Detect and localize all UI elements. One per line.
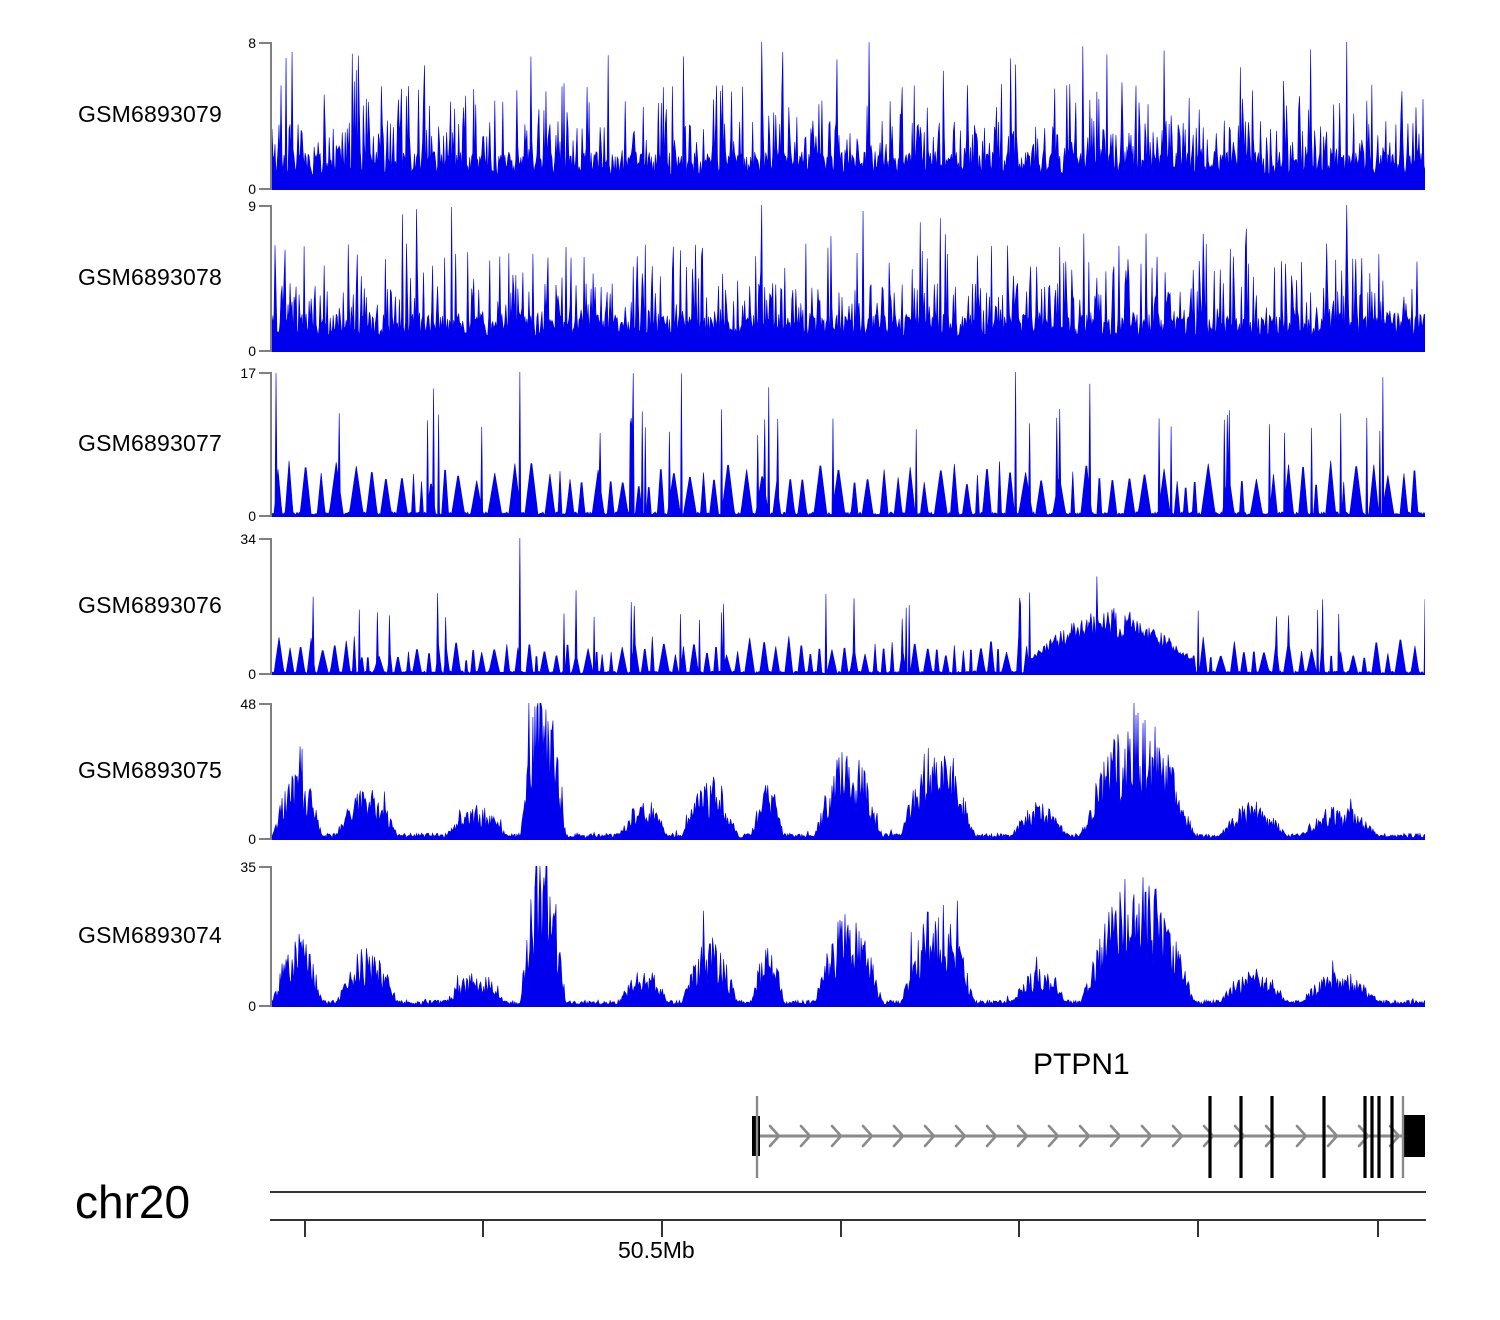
exon-mark bbox=[1363, 1096, 1366, 1178]
track-label-gsm6893077: GSM6893077 bbox=[78, 430, 222, 457]
y-axis-tick-max bbox=[259, 42, 270, 44]
y-axis-min-label: 0 bbox=[248, 509, 256, 523]
y-axis-tick-min bbox=[259, 515, 270, 517]
y-axis-tick-min bbox=[259, 673, 270, 675]
coverage-track: GSM6893074350 bbox=[0, 866, 1500, 1007]
y-axis-max-label: 17 bbox=[240, 366, 256, 380]
track-label-gsm6893078: GSM6893078 bbox=[78, 264, 222, 291]
coverage-wiggle bbox=[272, 538, 1425, 675]
coverage-wiggle bbox=[272, 866, 1425, 1007]
y-axis-tick-min bbox=[259, 838, 270, 840]
exon-mark bbox=[1377, 1096, 1380, 1178]
y-axis-max-label: 34 bbox=[240, 532, 256, 546]
y-axis-max-label: 48 bbox=[240, 697, 256, 711]
y-axis-tick-max bbox=[259, 372, 270, 374]
coverage-wiggle bbox=[272, 703, 1425, 840]
genome-browser-figure: GSM689307980GSM689307890GSM6893077170GSM… bbox=[0, 0, 1500, 1320]
track-plot-area[interactable]: 340 bbox=[270, 538, 1425, 675]
y-axis-tick-max bbox=[259, 866, 270, 868]
exon-mark bbox=[1390, 1096, 1393, 1178]
track-plot-area[interactable]: 90 bbox=[270, 205, 1425, 352]
coverage-wiggle bbox=[272, 372, 1425, 517]
exon-mark bbox=[1208, 1096, 1211, 1178]
chromosome-axis-svg[interactable] bbox=[270, 1187, 1432, 1247]
track-label-gsm6893079: GSM6893079 bbox=[78, 101, 222, 128]
track-plot-area[interactable]: 480 bbox=[270, 703, 1425, 840]
exon-mark bbox=[1322, 1096, 1325, 1178]
chromosome-label: chr20 bbox=[75, 1179, 190, 1225]
track-plot-area[interactable]: 80 bbox=[270, 42, 1425, 190]
exon-mark bbox=[1239, 1096, 1242, 1178]
axis-tick-label: 50.5Mb bbox=[618, 1237, 695, 1264]
coverage-wiggle bbox=[272, 42, 1425, 190]
y-axis-max-label: 35 bbox=[240, 860, 256, 874]
track-plot-area[interactable]: 350 bbox=[270, 866, 1425, 1007]
coverage-track: GSM6893075480 bbox=[0, 703, 1500, 840]
y-axis-min-label: 0 bbox=[248, 667, 256, 681]
track-label-gsm6893074: GSM6893074 bbox=[78, 922, 222, 949]
y-axis-tick-max bbox=[259, 538, 270, 540]
y-axis-tick-max bbox=[259, 703, 270, 705]
track-label-gsm6893075: GSM6893075 bbox=[78, 757, 222, 784]
y-axis-tick-min bbox=[259, 350, 270, 352]
coverage-track: GSM689307890 bbox=[0, 205, 1500, 352]
coverage-track: GSM689307980 bbox=[0, 42, 1500, 190]
y-axis-max-label: 8 bbox=[248, 36, 256, 50]
y-axis-tick-max bbox=[259, 205, 270, 207]
coverage-wiggle bbox=[272, 205, 1425, 352]
y-axis-tick-min bbox=[259, 188, 270, 190]
y-axis-min-label: 0 bbox=[248, 999, 256, 1013]
y-axis-min-label: 0 bbox=[248, 832, 256, 846]
track-plot-area[interactable]: 170 bbox=[270, 372, 1425, 517]
y-axis-max-label: 9 bbox=[248, 199, 256, 213]
y-axis-min-label: 0 bbox=[248, 182, 256, 196]
gene-label: PTPN1 bbox=[1033, 1048, 1130, 1082]
track-label-gsm6893076: GSM6893076 bbox=[78, 592, 222, 619]
coverage-track: GSM6893076340 bbox=[0, 538, 1500, 675]
chromosome-axis-panel: chr20 50.5Mb bbox=[0, 1175, 1500, 1295]
exon-mark bbox=[1370, 1096, 1373, 1178]
gene-model-svg[interactable] bbox=[270, 1088, 1430, 1183]
gene-annotation-panel: PTPN1 bbox=[0, 1040, 1500, 1185]
y-axis-min-label: 0 bbox=[248, 344, 256, 358]
coverage-track: GSM6893077170 bbox=[0, 372, 1500, 517]
y-axis-tick-min bbox=[259, 1005, 270, 1007]
exon-mark bbox=[1270, 1096, 1273, 1178]
